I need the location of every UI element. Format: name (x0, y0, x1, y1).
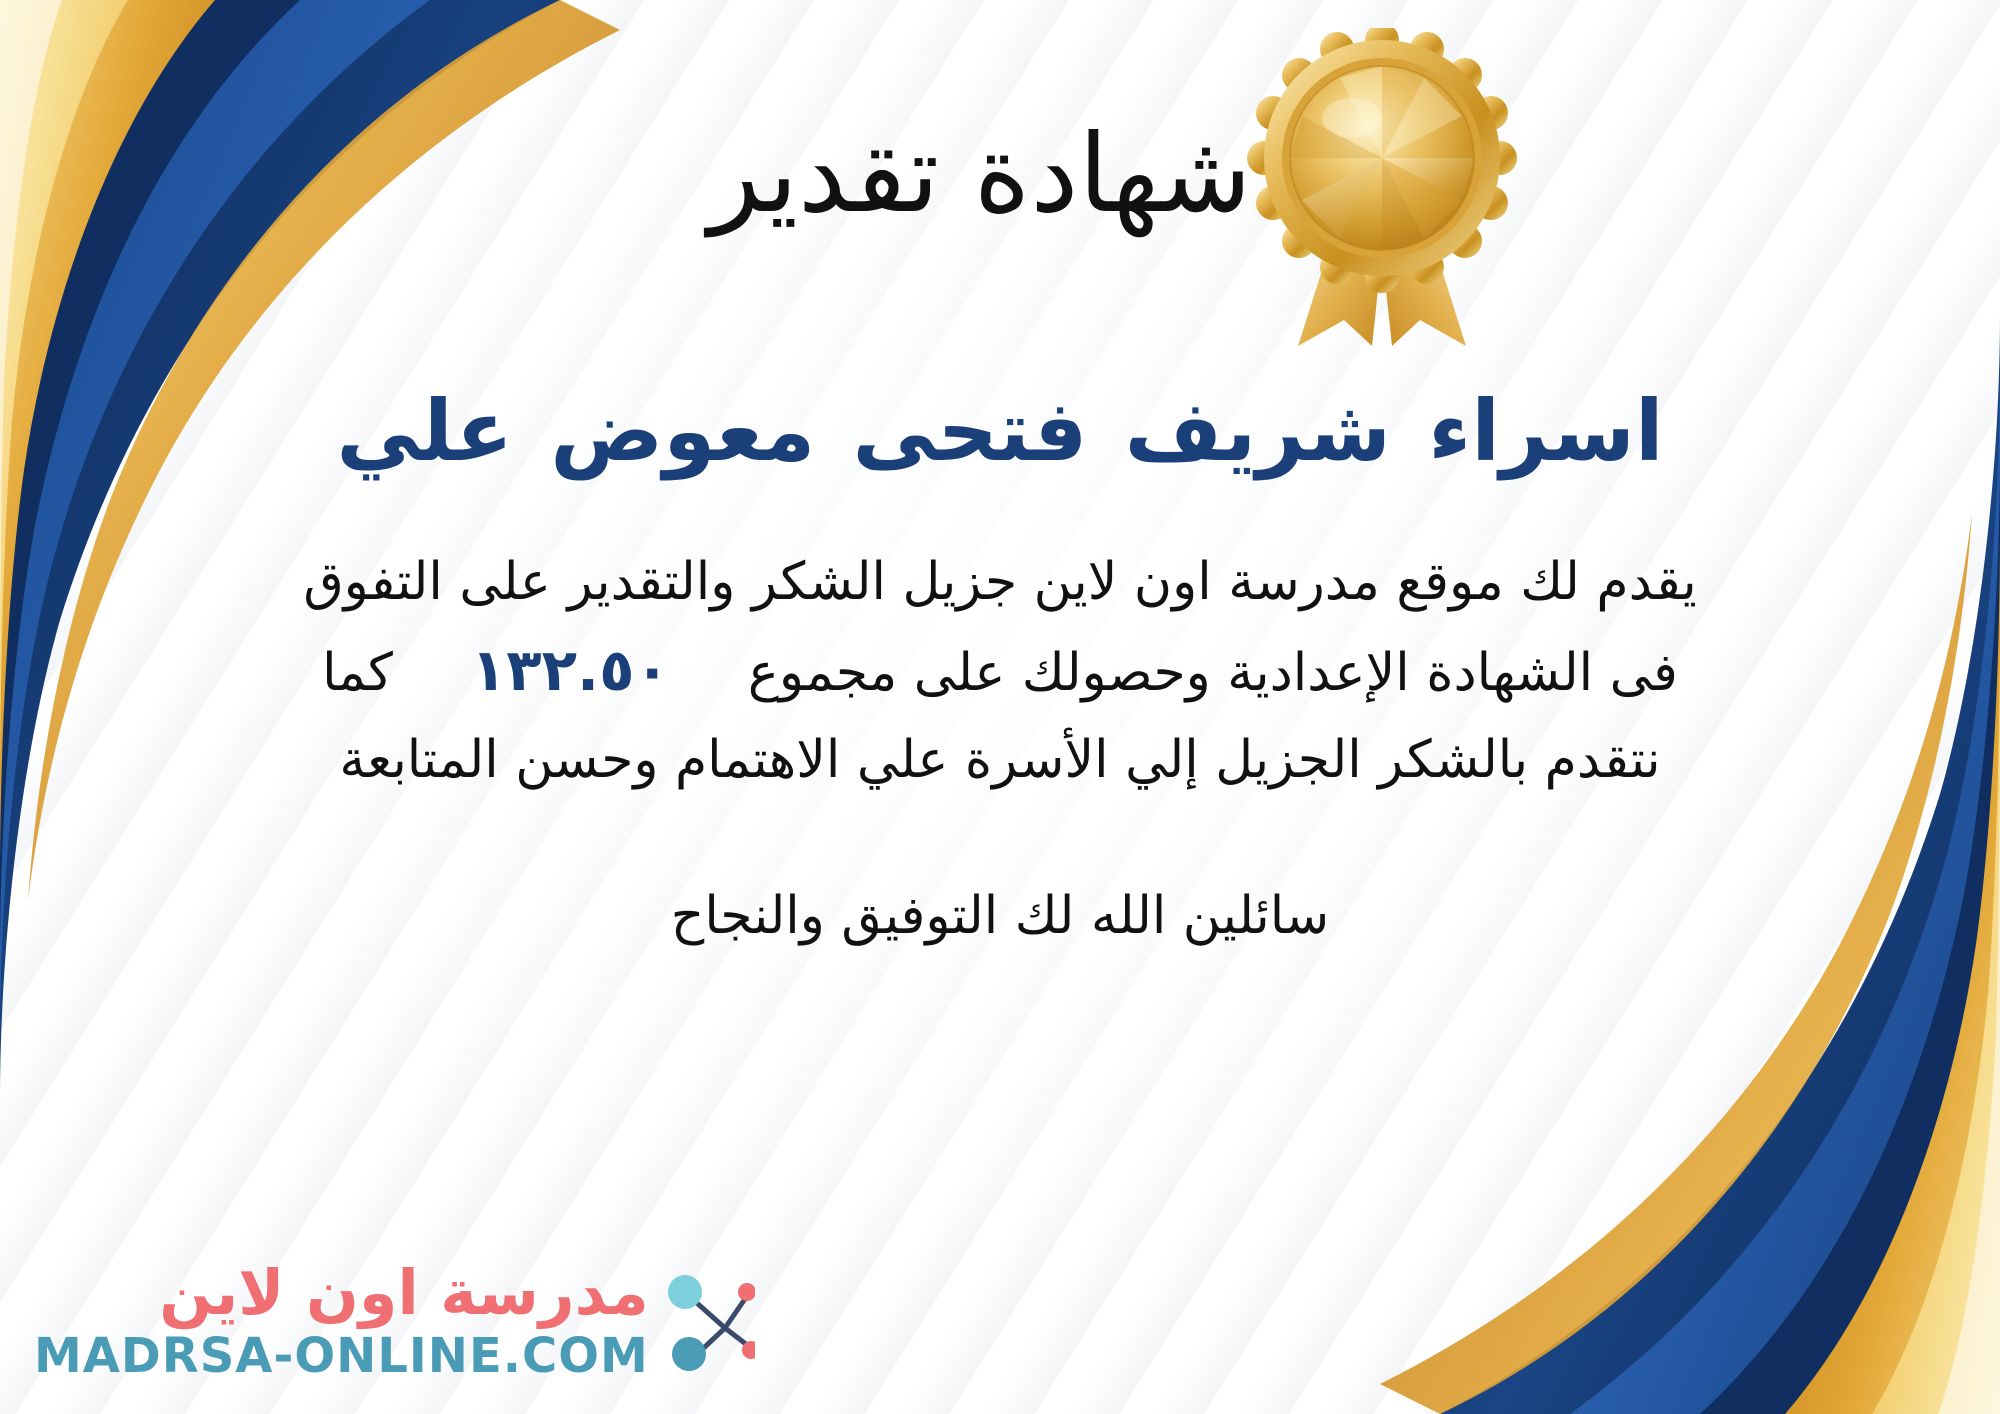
body-line-2-suffix: كما (322, 643, 393, 703)
body-line-2: فى الشهادة الإعدادية وحصولك على مجموع١٣٢… (60, 624, 1940, 718)
certificate-body: يقدم لك موقع مدرسة اون لاين جزيل الشكر و… (60, 540, 1940, 802)
closing-wish: سائلين الله لك التوفيق والنجاح (150, 877, 1850, 955)
brand-logo[interactable]: مدرسة اون لاين MADRSA-ONLINE.COM (34, 1262, 755, 1380)
body-line-1: يقدم لك موقع مدرسة اون لاين جزيل الشكر و… (60, 540, 1940, 624)
body-line-2-prefix: فى الشهادة الإعدادية وحصولك على مجموع (748, 643, 1678, 703)
certificate-page: شهادة تقدير اسراء شريف فتحى معوض علي يقد… (0, 0, 2000, 1414)
molecule-network-icon (659, 1266, 755, 1376)
grade-value: ١٣٢.٥٠ (445, 636, 696, 704)
certificate-content: شهادة تقدير اسراء شريف فتحى معوض علي يقد… (0, 0, 2000, 1414)
certificate-title: شهادة تقدير (0, 118, 2000, 231)
brand-domain-text: MADRSA-ONLINE.COM (34, 1332, 649, 1380)
brand-arabic-name: مدرسة اون لاين (159, 1262, 649, 1324)
body-line-3: نتقدم بالشكر الجزيل إلي الأسرة علي الاهت… (60, 718, 1940, 802)
brand-text-block: مدرسة اون لاين MADRSA-ONLINE.COM (34, 1262, 649, 1380)
recipient-name: اسراء شريف فتحى معوض علي (250, 381, 1750, 482)
